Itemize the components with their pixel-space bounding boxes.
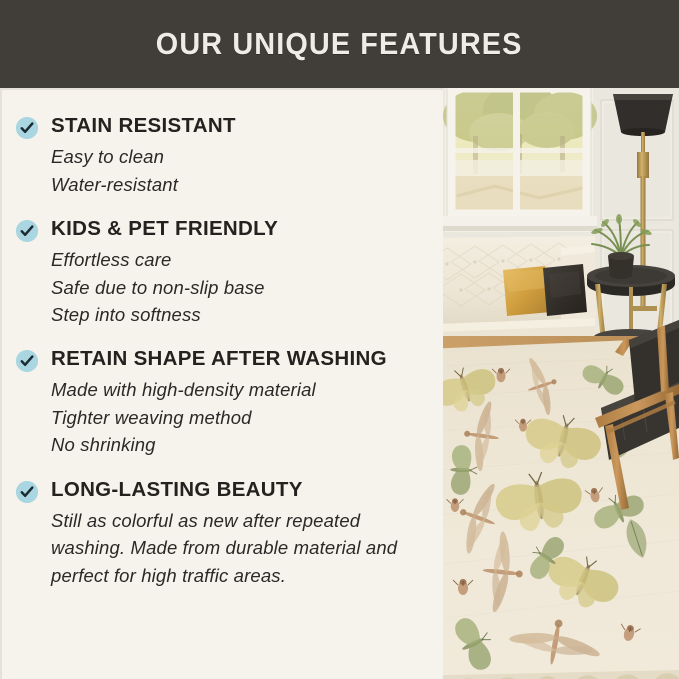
check-icon-wrap-4 <box>16 478 41 503</box>
room-photo <box>443 88 679 679</box>
feature-line: Made with high-density material <box>51 376 429 403</box>
feature-text-2: KIDS & PET FRIENDLY Effortless care Safe… <box>41 217 429 328</box>
check-icon-wrap-2 <box>16 217 41 242</box>
feature-line: Effortless care <box>51 246 429 273</box>
panel-top-divider <box>0 88 443 90</box>
feature-item-kids-pet-friendly: KIDS & PET FRIENDLY Effortless care Safe… <box>16 217 429 328</box>
feature-line: Step into softness <box>51 301 429 328</box>
feature-title: STAIN RESISTANT <box>51 114 429 138</box>
check-icon-wrap-1 <box>16 114 41 139</box>
feature-text-1: STAIN RESISTANT Easy to clean Water-resi… <box>41 114 429 198</box>
feature-line: No shrinking <box>51 431 429 458</box>
feature-title: RETAIN SHAPE AFTER WASHING <box>51 347 429 371</box>
check-circle-icon <box>16 481 38 503</box>
feature-item-long-lasting-beauty: LONG-LASTING BEAUTY Still as colorful as… <box>16 478 429 589</box>
feature-line: Water-resistant <box>51 171 429 198</box>
feature-paragraph: Still as colorful as new after repeated … <box>51 507 429 589</box>
feature-title: LONG-LASTING BEAUTY <box>51 478 429 502</box>
check-circle-icon <box>16 350 38 372</box>
features-infographic: OUR UNIQUE FEATURES STAIN RESISTANT Easy… <box>0 0 679 679</box>
page-title: OUR UNIQUE FEATURES <box>156 26 523 62</box>
feature-text-4: LONG-LASTING BEAUTY Still as colorful as… <box>41 478 429 589</box>
feature-item-retain-shape: RETAIN SHAPE AFTER WASHING Made with hig… <box>16 347 429 458</box>
feature-line: Safe due to non-slip base <box>51 274 429 301</box>
feature-line: Tighter weaving method <box>51 404 429 431</box>
feature-line: Easy to clean <box>51 143 429 170</box>
header-banner: OUR UNIQUE FEATURES <box>0 0 679 88</box>
check-icon-wrap-3 <box>16 347 41 372</box>
check-circle-icon <box>16 117 38 139</box>
feature-item-stain-resistant: STAIN RESISTANT Easy to clean Water-resi… <box>16 114 429 198</box>
check-circle-icon <box>16 220 38 242</box>
features-panel: STAIN RESISTANT Easy to clean Water-resi… <box>0 88 443 679</box>
room-photo-illustration <box>443 88 679 679</box>
feature-text-3: RETAIN SHAPE AFTER WASHING Made with hig… <box>41 347 429 458</box>
feature-title: KIDS & PET FRIENDLY <box>51 217 429 241</box>
